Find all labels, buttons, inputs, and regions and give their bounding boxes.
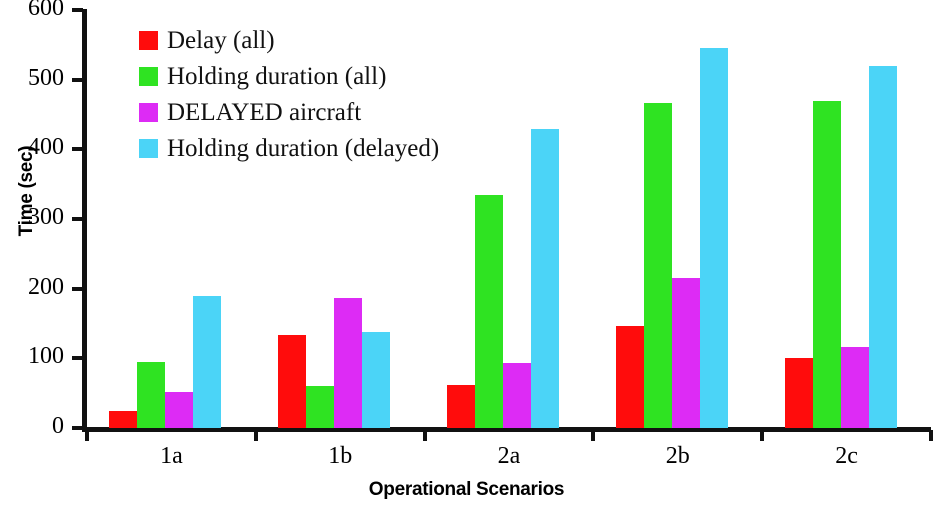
bar [672, 278, 700, 428]
x-axis-tick [423, 430, 427, 441]
bar [841, 347, 869, 428]
x-axis-tick [85, 430, 89, 441]
x-axis-tick-label: 1b [280, 443, 400, 469]
x-axis-tick [591, 430, 595, 441]
bar [503, 363, 531, 428]
x-axis-tick-label: 2a [449, 443, 569, 469]
bar [109, 411, 137, 428]
x-axis-tick [254, 430, 258, 441]
bar [278, 335, 306, 428]
legend-item[interactable]: DELAYED aircraft [139, 94, 439, 130]
x-axis-tick-label: 1a [111, 443, 231, 469]
bar [193, 296, 221, 428]
legend-swatch-icon [139, 103, 158, 122]
legend-label: Delay (all) [167, 28, 275, 53]
x-axis-tick [760, 430, 764, 441]
x-axis-tick-label: 2c [787, 443, 907, 469]
legend-item[interactable]: Holding duration (delayed) [139, 130, 439, 166]
x-axis-tick-label: 2b [618, 443, 738, 469]
bar [644, 103, 672, 428]
bar [616, 326, 644, 428]
x-axis-title: Operational Scenarios [0, 479, 933, 501]
legend-swatch-icon [139, 31, 158, 50]
legend-label: Holding duration (delayed) [167, 136, 439, 161]
bar [165, 392, 193, 428]
bar [475, 195, 503, 428]
x-axis-tick [929, 430, 933, 441]
bar [869, 66, 897, 428]
bar [531, 129, 559, 428]
bar [813, 101, 841, 428]
bar [447, 385, 475, 428]
legend-swatch-icon [139, 139, 158, 158]
legend-item[interactable]: Holding duration (all) [139, 58, 439, 94]
bar [137, 362, 165, 428]
legend-label: DELAYED aircraft [167, 100, 361, 125]
bar [700, 48, 728, 428]
bar [306, 386, 334, 428]
chart-legend: Delay (all)Holding duration (all)DELAYED… [139, 22, 439, 166]
bar-chart: Time (sec) 0100200300400500600 1a1b2a2b2… [0, 0, 933, 511]
bar [785, 358, 813, 428]
bar [334, 298, 362, 428]
legend-swatch-icon [139, 67, 158, 86]
legend-item[interactable]: Delay (all) [139, 22, 439, 58]
legend-label: Holding duration (all) [167, 64, 386, 89]
bar [362, 332, 390, 428]
